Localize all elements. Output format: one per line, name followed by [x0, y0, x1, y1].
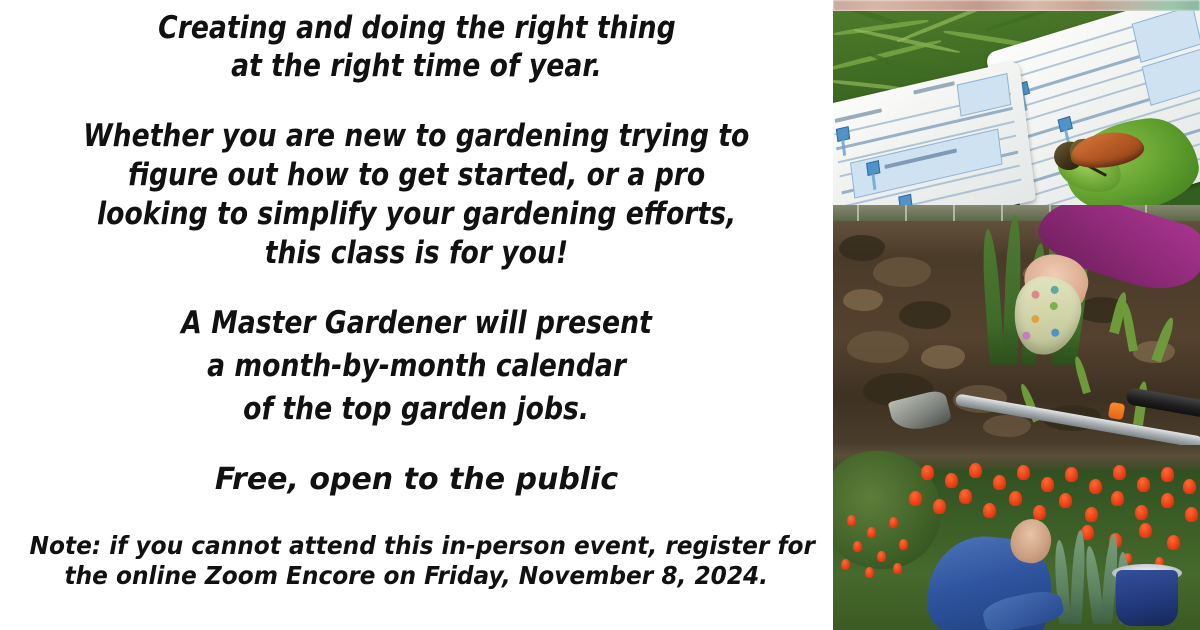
- presenter-line-2-text: a month-by-month calendar: [207, 348, 626, 384]
- presenter-line-3-text: of the top garden jobs.: [244, 391, 590, 427]
- presenter-line-1: A Master Gardener will present: [0, 305, 833, 341]
- audience-line-3: looking to simplify your gardening effor…: [0, 196, 833, 232]
- headline-line-2: at the right time of year.: [0, 48, 833, 84]
- audience-line-2: figure out how to get started, or a pro: [0, 157, 833, 193]
- presenter-line-3: of the top garden jobs.: [0, 391, 833, 427]
- audience-line-3-text: looking to simplify your gardening effor…: [97, 196, 736, 232]
- audience-line-1: Whether you are new to gardening trying …: [0, 118, 833, 154]
- presenter-line-2: a month-by-month calendar: [0, 348, 833, 384]
- photo-garden-planner-calendar: [833, 11, 1200, 205]
- event-flyer: Creating and doing the right thing at th…: [0, 0, 1200, 630]
- flyer-photo-column: [833, 0, 1200, 630]
- headline-line-1-text: Creating and doing the right thing: [158, 10, 676, 46]
- bucket: [1116, 570, 1178, 626]
- flyer-text-column: Creating and doing the right thing at th…: [0, 0, 833, 630]
- audience-line-1-text: Whether you are new to gardening trying …: [83, 118, 749, 154]
- admission-line: Free, open to the public: [0, 462, 833, 497]
- note-line-1: Note: if you cannot attend this in-perso…: [0, 531, 833, 560]
- note-line-2: the online Zoom Encore on Friday, Novemb…: [0, 561, 833, 590]
- headline-line-1: Creating and doing the right thing: [0, 10, 833, 46]
- photo-gardener-with-tulips: [833, 445, 1200, 630]
- photo-top-sliver: [833, 0, 1200, 11]
- admission-line-text: Free, open to the public: [215, 462, 618, 497]
- audience-line-2-text: figure out how to get started, or a pro: [128, 157, 705, 193]
- presenter-line-1-text: A Master Gardener will present: [181, 305, 652, 341]
- audience-line-4-text: this class is for you!: [265, 235, 568, 271]
- photo-hand-weeding-soil: [833, 205, 1200, 445]
- hoe-ferrule: [1108, 402, 1126, 420]
- note-line-2-text: the online Zoom Encore on Friday, Novemb…: [65, 561, 769, 590]
- note-line-1-text: Note: if you cannot attend this in-perso…: [30, 531, 815, 560]
- headline-line-2-text: at the right time of year.: [231, 48, 602, 84]
- audience-line-4: this class is for you!: [0, 235, 833, 271]
